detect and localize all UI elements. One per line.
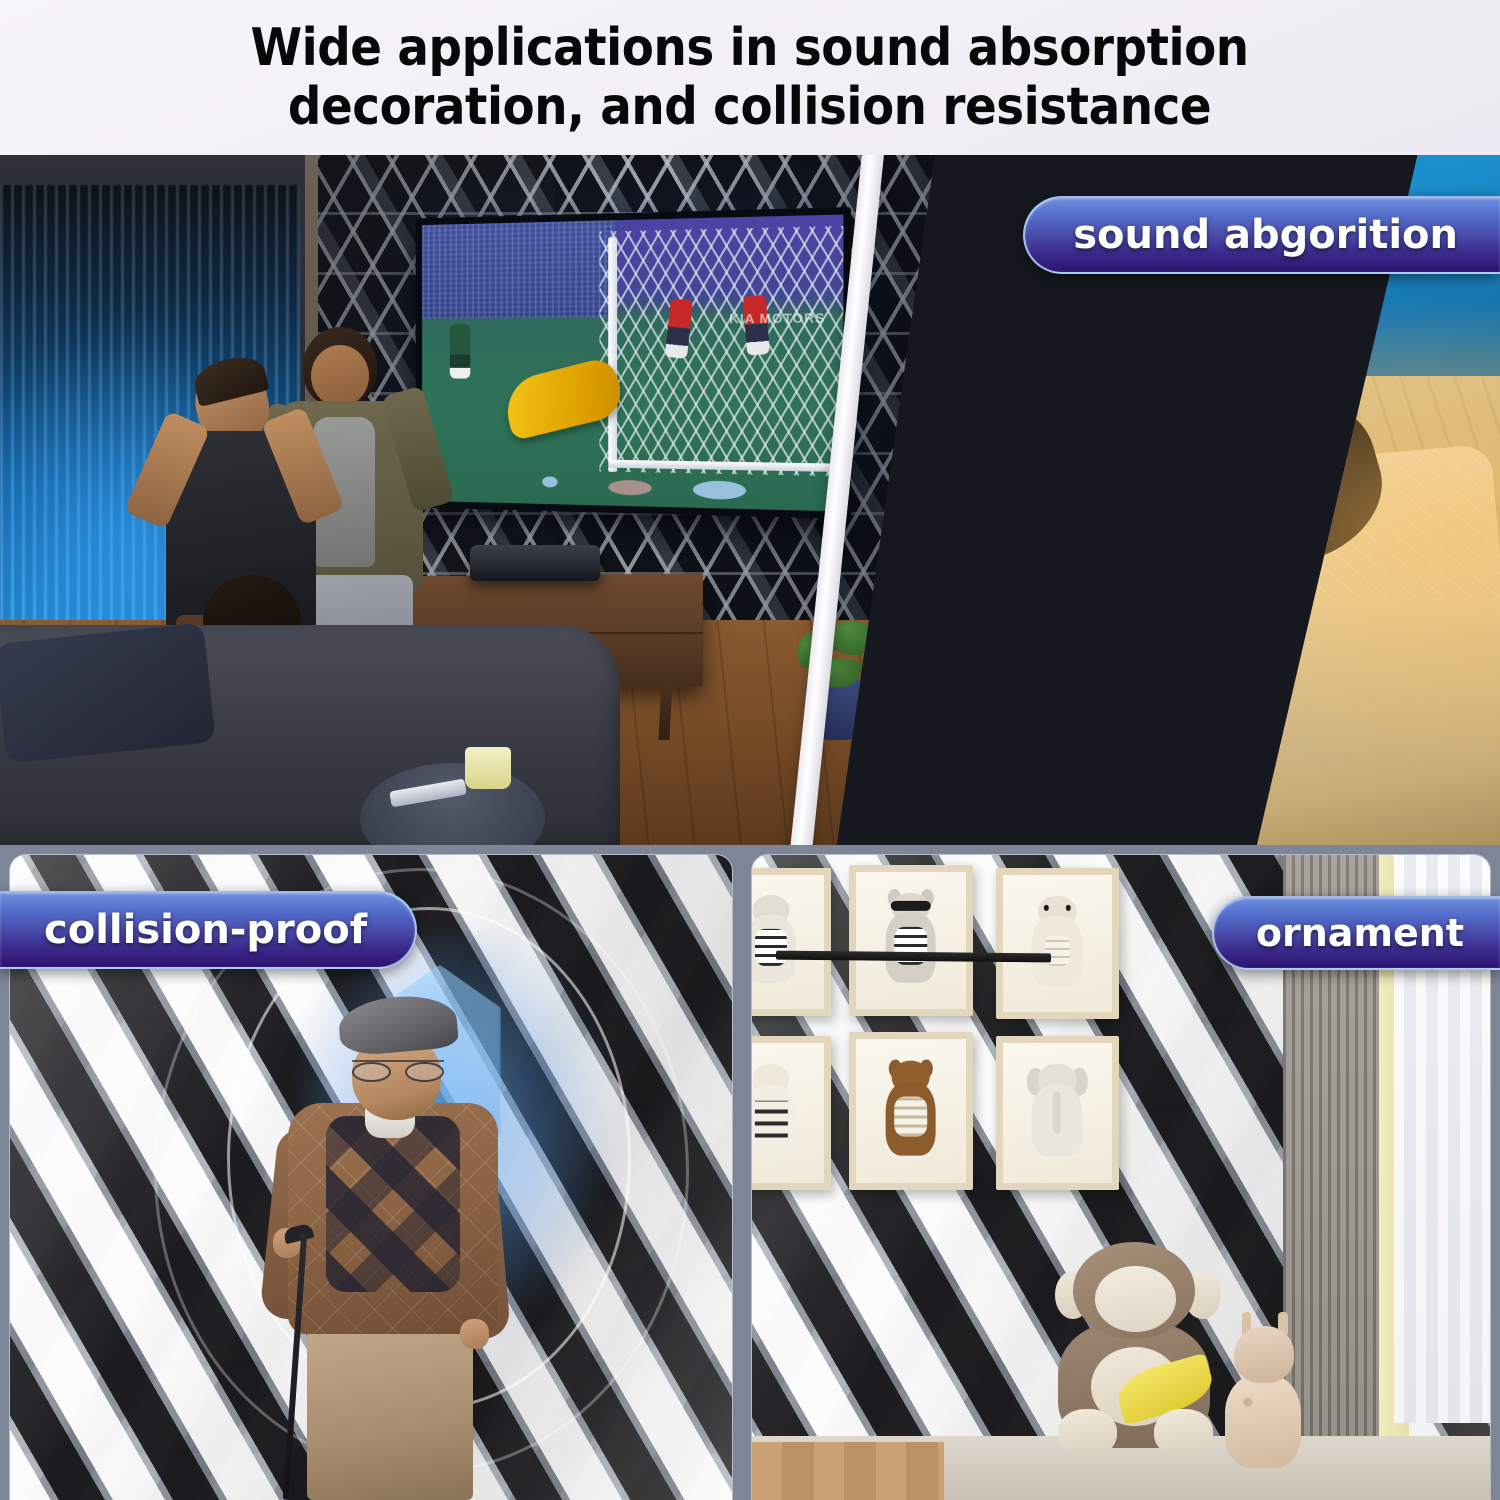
art-print-bear xyxy=(849,1032,973,1190)
raccoon-mask xyxy=(891,900,931,910)
tv-goal-net xyxy=(600,226,844,475)
animal-belly xyxy=(755,929,787,966)
animal-pattern xyxy=(755,1101,788,1138)
monkey-face xyxy=(1095,1266,1176,1332)
plush-giraffe-toy xyxy=(1217,1326,1313,1468)
sound-absorption-badge[interactable]: sound abgorition xyxy=(1023,196,1500,274)
panel-living-room: KIA MOTORS xyxy=(0,155,935,845)
back-pillow xyxy=(837,294,1353,445)
art-animal xyxy=(1032,1064,1082,1157)
tv-sponsor-text: KIA MOTORS xyxy=(729,310,825,326)
badge-label: sound abgorition xyxy=(1073,212,1458,258)
wall-mounted-tv: KIA MOTORS xyxy=(416,207,851,519)
monkey-hand xyxy=(1154,1409,1213,1457)
art-print-partial xyxy=(752,868,831,1016)
elephant-trunk xyxy=(1053,1092,1061,1135)
art-print-owl xyxy=(996,868,1120,1019)
warm-lamp-glow xyxy=(1050,293,1500,776)
argyle-pattern xyxy=(326,1116,460,1292)
tv-goal-post xyxy=(608,237,617,471)
ornament-badge[interactable]: ornament xyxy=(1212,896,1500,970)
animal-art-gallery xyxy=(767,861,1225,1196)
giraffe-head xyxy=(1234,1326,1293,1383)
projector xyxy=(470,545,600,581)
glasses-icon xyxy=(352,1060,444,1082)
art-animal xyxy=(886,892,936,982)
sleeper-arm xyxy=(992,476,1212,704)
art-animal xyxy=(752,895,795,983)
art-print-raccoon xyxy=(849,865,973,1016)
trousers xyxy=(307,1314,472,1500)
art-animal xyxy=(886,1061,936,1156)
art-animal xyxy=(752,1064,795,1157)
owl-eye xyxy=(1044,905,1049,911)
wood-floor-strip xyxy=(752,1442,944,1500)
badge-label: ornament xyxy=(1256,911,1464,955)
tv-crowd xyxy=(422,220,616,319)
plush-monkey-toy xyxy=(1047,1242,1232,1461)
sleeper-shoulder xyxy=(861,373,1135,559)
animal-belly xyxy=(894,1097,927,1137)
page-title: Wide applications in sound absorption de… xyxy=(251,19,1249,135)
product-feature-collage: Wide applications in sound absorption de… xyxy=(0,0,1500,1500)
tv-litter xyxy=(608,479,652,495)
mug xyxy=(465,747,511,789)
badge-label: collision-proof xyxy=(44,907,367,953)
glasses-lens xyxy=(405,1062,444,1082)
glasses-lens xyxy=(352,1062,391,1082)
headline-banner: Wide applications in sound absorption de… xyxy=(0,0,1500,155)
collision-proof-badge[interactable]: collision-proof xyxy=(0,891,417,969)
cushion xyxy=(0,622,216,763)
giraffe-body xyxy=(1225,1374,1302,1468)
flat-cap xyxy=(337,992,459,1057)
tv-litter xyxy=(542,476,557,487)
elderly-man xyxy=(212,997,530,1500)
hand-on-knee xyxy=(460,1319,489,1349)
monkey-hand xyxy=(1058,1409,1117,1457)
art-animal xyxy=(1032,896,1082,986)
art-print-elephant xyxy=(996,1036,1120,1190)
art-print-partial xyxy=(752,1036,831,1190)
